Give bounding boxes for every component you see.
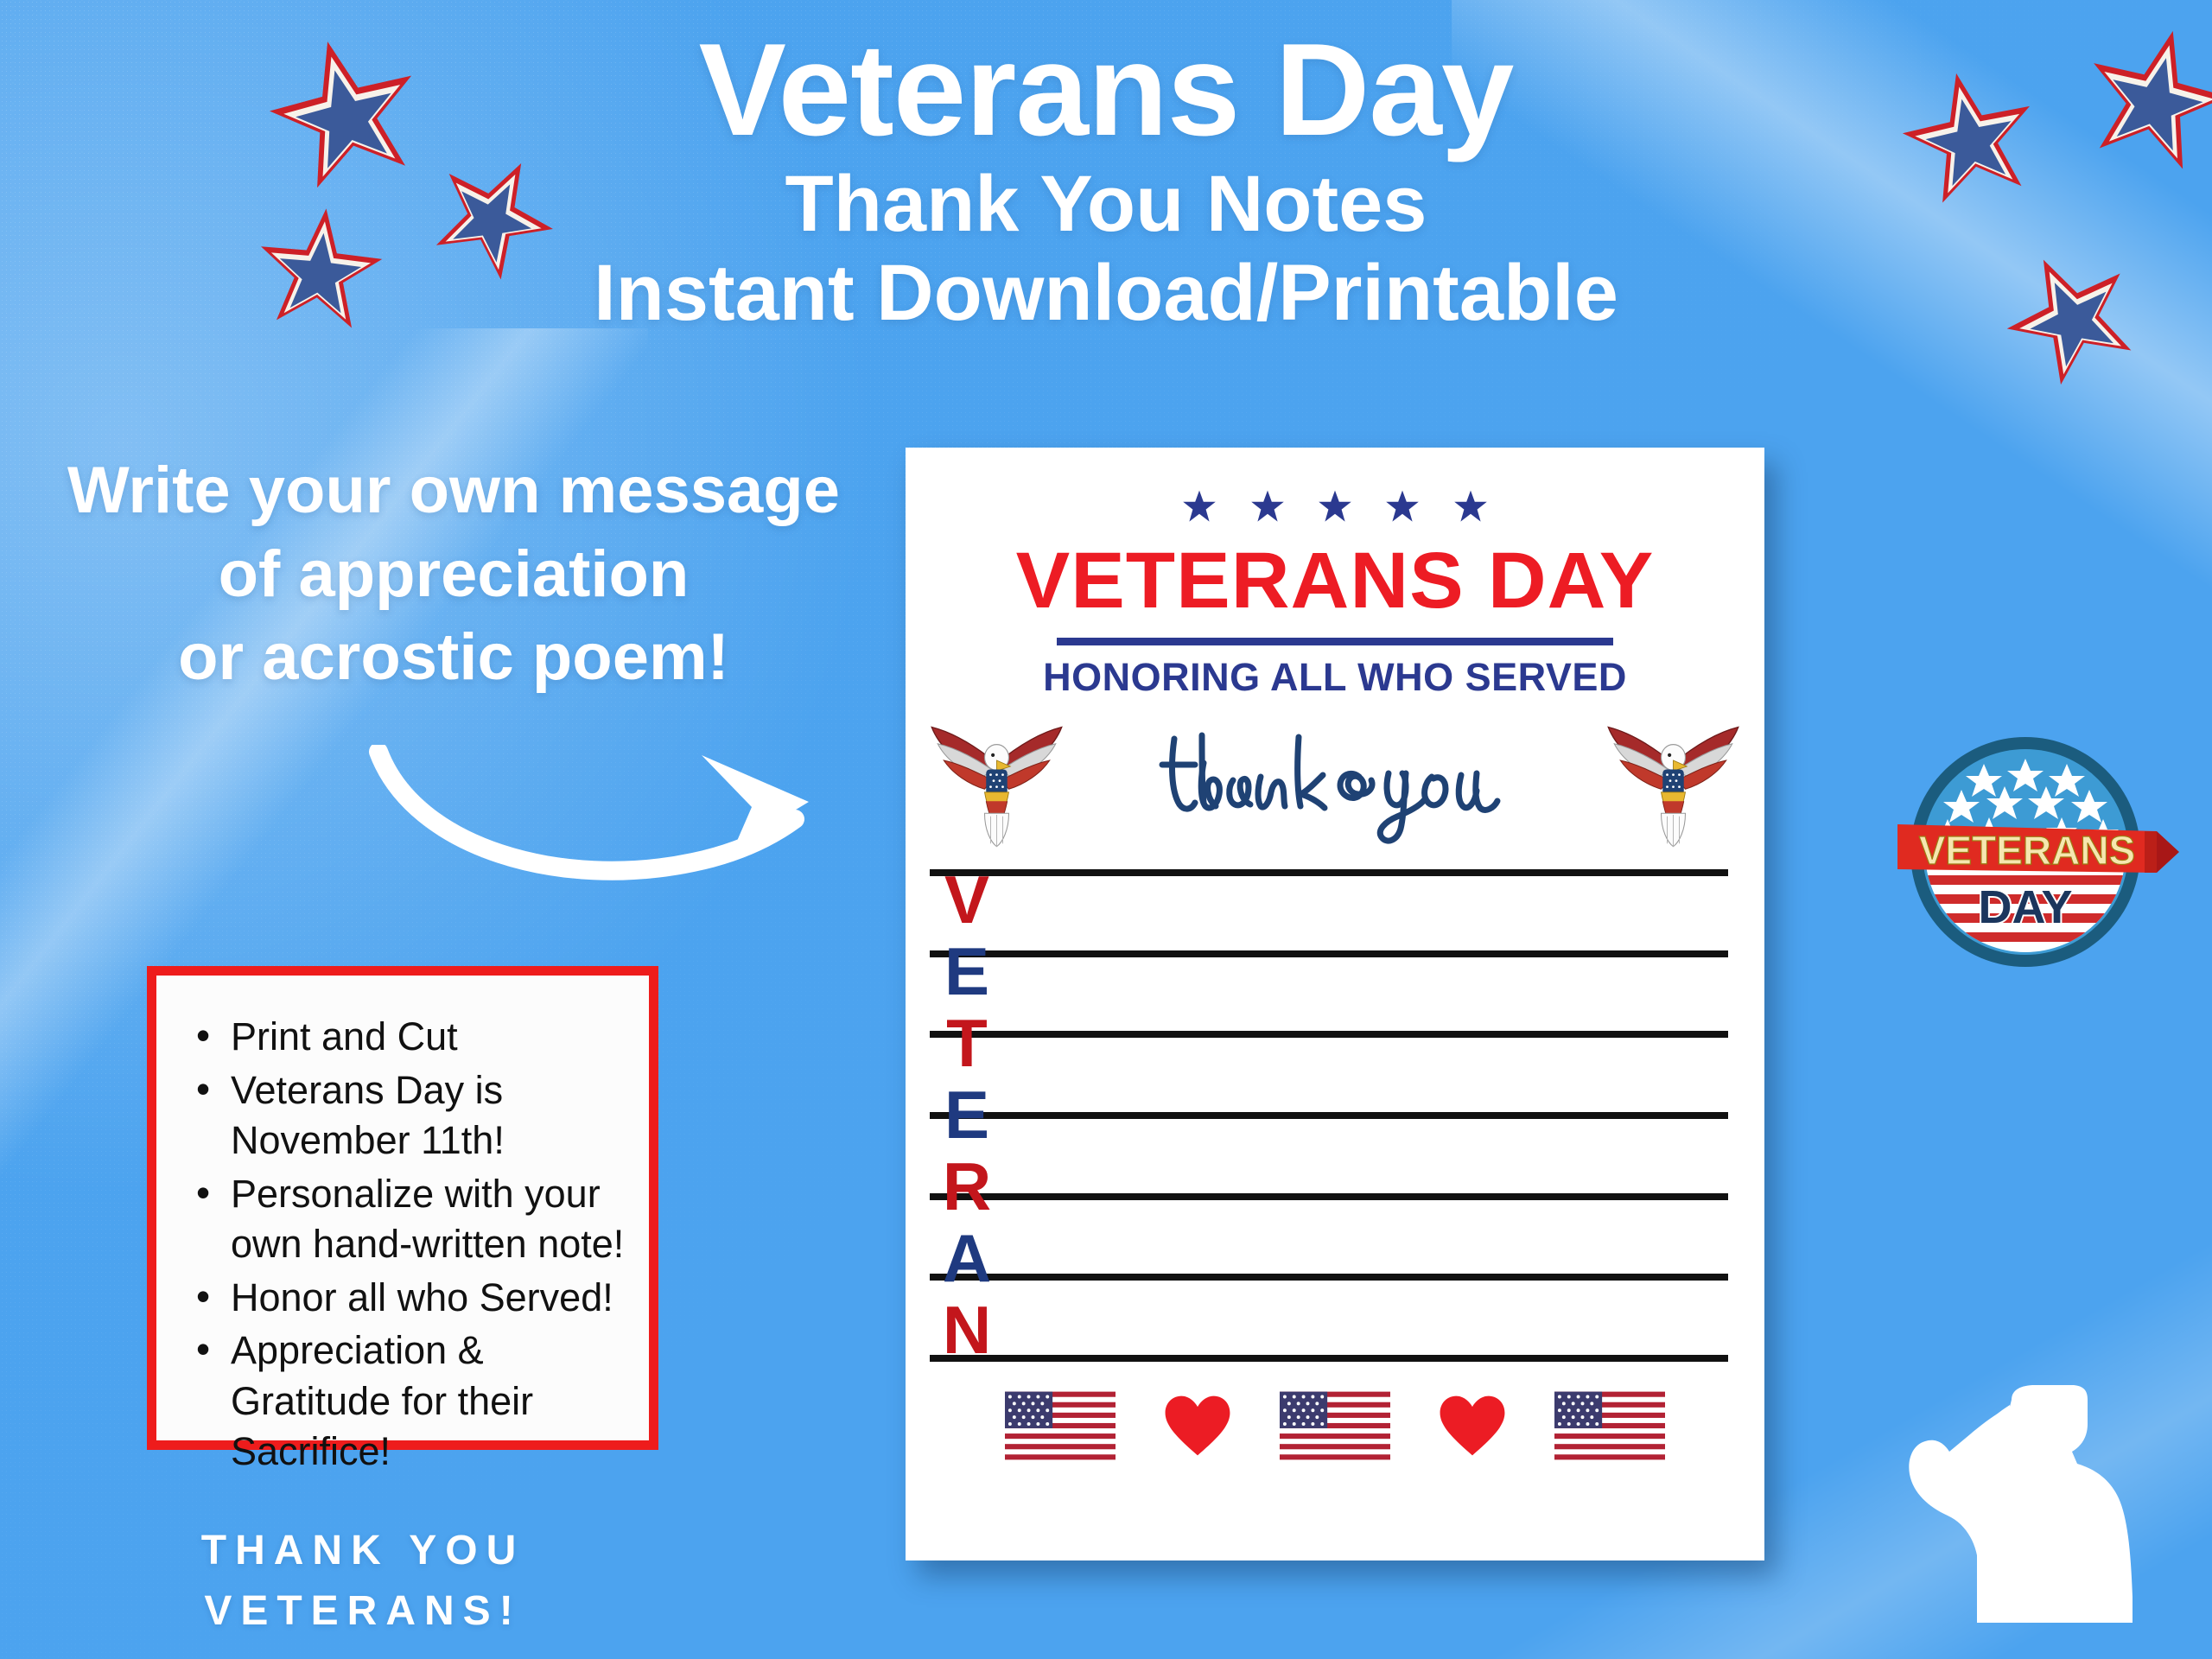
veterans-day-badge: VETERANS DAY (1897, 722, 2183, 990)
page-header: Veterans Day Thank You Notes Instant Dow… (0, 21, 2212, 338)
write-line[interactable] (930, 1274, 1728, 1281)
write-line[interactable] (930, 1112, 1728, 1119)
card-title: VETERANS DAY (906, 541, 1764, 620)
tagline: Write your own message of appreciation o… (9, 449, 899, 700)
acrostic-write-lines (930, 869, 1728, 1362)
saluting-soldier-icon (1880, 1338, 2212, 1659)
flag-icon (1554, 1391, 1665, 1460)
flag-icon (1280, 1391, 1390, 1460)
write-line[interactable] (930, 869, 1728, 876)
acrostic-letter: E (930, 1084, 1004, 1147)
heart-icon (1439, 1395, 1506, 1457)
tagline-line-3: or acrostic poem! (9, 616, 899, 700)
thank-you-line-2: VETERANS! (104, 1581, 622, 1642)
thank-you-script-text (1072, 720, 1598, 849)
acrostic-letter: R (930, 1156, 1004, 1218)
star-icon (1182, 489, 1217, 524)
list-item: Print and Cut (175, 1012, 628, 1063)
write-line[interactable] (930, 1031, 1728, 1038)
tagline-line-2: of appreciation (9, 533, 899, 617)
list-item: Appreciation & Gratitude for their Sacri… (175, 1325, 628, 1478)
page-title: Veterans Day (0, 21, 2212, 160)
acrostic-letters: V E T E R A N (930, 869, 1004, 1362)
tagline-line-1: Write your own message (9, 449, 899, 533)
features-list: Print and Cut Veterans Day is November 1… (175, 1012, 628, 1478)
star-icon (1250, 489, 1285, 524)
thank-you-line-1: THANK YOU (104, 1521, 622, 1581)
badge-lower-text: DAY (1978, 881, 2072, 933)
write-line[interactable] (930, 950, 1728, 957)
star-icon (1385, 489, 1420, 524)
page-subtitle-one: Thank You Notes (0, 160, 2212, 249)
list-item: Personalize with your own hand-written n… (175, 1169, 628, 1270)
write-line[interactable] (930, 1355, 1728, 1362)
card-subtitle: HONORING ALL WHO SERVED (906, 658, 1764, 696)
card-footer-icons (906, 1391, 1764, 1460)
card-eagle-thankyou-row (906, 696, 1764, 854)
write-line[interactable] (930, 1193, 1728, 1200)
eagle-icon (1598, 715, 1749, 854)
list-item: Veterans Day is November 11th! (175, 1065, 628, 1166)
eagle-icon (921, 715, 1072, 854)
star-icon (1318, 489, 1352, 524)
curved-arrow-icon (363, 745, 847, 909)
flag-icon (1005, 1391, 1116, 1460)
star-icon (1453, 489, 1488, 524)
acrostic-letter: A (930, 1228, 1004, 1290)
page-subtitle-two: Instant Download/Printable (0, 249, 2212, 338)
acrostic-letter: V (930, 869, 1004, 931)
features-box: Print and Cut Veterans Day is November 1… (147, 966, 658, 1450)
heart-icon (1164, 1395, 1231, 1457)
acrostic-letter: E (930, 941, 1004, 1003)
acrostic-writing-area: V E T E R A N (906, 869, 1764, 1362)
acrostic-letter: N (930, 1300, 1004, 1362)
card-star-row (906, 448, 1764, 524)
printable-card-preview: VETERANS DAY HONORING ALL WHO SERVED (906, 448, 1764, 1560)
list-item: Honor all who Served! (175, 1273, 628, 1324)
acrostic-letter: T (930, 1013, 1004, 1075)
thank-you-veterans-text: THANK YOU VETERANS! (104, 1521, 622, 1642)
card-divider (1057, 638, 1613, 645)
badge-ribbon-text: VETERANS (1919, 828, 2135, 873)
